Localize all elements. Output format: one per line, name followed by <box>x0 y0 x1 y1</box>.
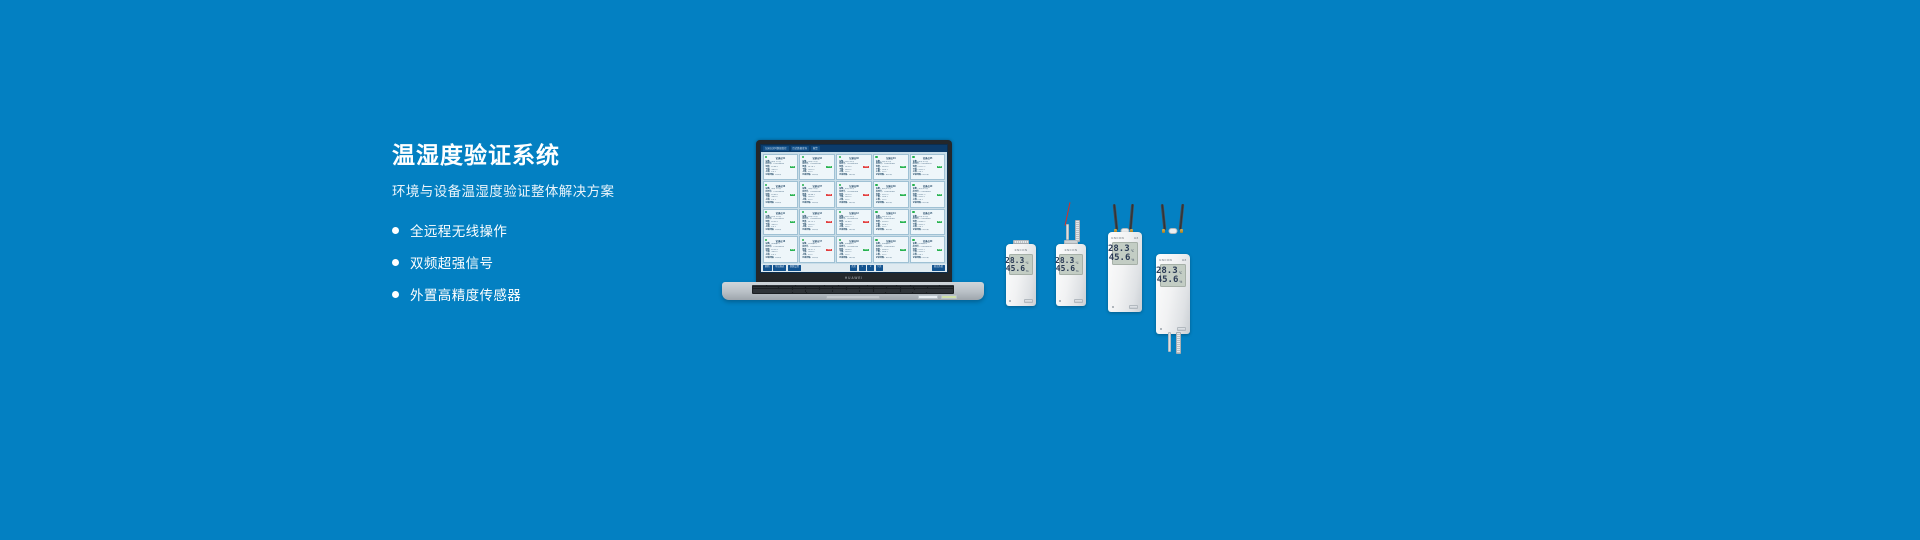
card-field-row: 记录间隔:10分钟 <box>766 257 796 259</box>
probe-stem <box>1066 224 1069 240</box>
card-field-row: 记录间隔:10分钟 <box>802 174 832 176</box>
lcd-humidity-line: 45.6 % <box>1109 254 1135 263</box>
card-field-key: 记录间隔: <box>839 202 848 204</box>
device-brand-row: ENCON H8 <box>1159 258 1186 262</box>
card-field-key: 记录间隔: <box>766 174 775 176</box>
antenna-right-connector <box>1180 229 1184 233</box>
card-field-value: 10分钟 <box>849 229 855 231</box>
laptop-keyboard <box>752 285 954 295</box>
list-item: 全远程无线操作 <box>392 220 722 240</box>
lcd-humidity-unit: % <box>1179 281 1182 284</box>
laptop-sticker-spec <box>918 295 938 299</box>
pager-page-2[interactable]: 2 <box>867 265 874 271</box>
sensor-card[interactable]: 记录仪11设备:仓库 1号点序列号:T220200111温度:25.55℃正常下… <box>763 209 799 236</box>
card-field-row: 记录间隔:10分钟 <box>913 202 943 204</box>
laptop-brand-label: HUAWEI <box>756 273 952 282</box>
card-field-value: 10分钟 <box>922 229 928 231</box>
device-lcd-display: 28.3 ℃ 45.6 % <box>1009 254 1032 275</box>
page-subtitle: 环境与设备温湿度验证整体解决方案 <box>392 183 722 201</box>
card-field-key: 记录间隔: <box>766 229 775 231</box>
card-field-row: 记录间隔:10分钟 <box>802 229 832 231</box>
antenna-right-icon <box>1179 204 1185 230</box>
lcd-humidity-value: 45.6 <box>1056 265 1075 273</box>
card-field-key: 记录间隔: <box>802 257 811 259</box>
sensor-card[interactable]: 记录仪18设备:恒温箱3号序列号:T220200118温度:25.44℃正常下限… <box>836 236 872 263</box>
card-field-row: 记录间隔:10分钟 <box>766 229 796 231</box>
sensor-card[interactable]: 记录仪19设备:恒温箱4号序列号:T220200119温度:24.69℃正常下限… <box>873 236 909 263</box>
card-field-row: 记录间隔:10分钟 <box>839 257 869 259</box>
device-logger-wireless-1: ENCON H8 28.3 ℃ 45.6 % <box>1108 232 1142 312</box>
card-field-row: 记录间隔:10分钟 <box>913 229 943 231</box>
lcd-humidity-unit: % <box>1026 270 1029 273</box>
sensor-card[interactable]: 记录仪05设备:冷库 5号点序列号:T220200105温度:25.12℃正常下… <box>910 154 946 181</box>
device-body: ENCON H8 28.3 ℃ 45.6 % <box>1108 232 1142 312</box>
sensor-card[interactable]: 记录仪03设备:冷库 3号点序列号:T220200103温度:25.31℃报警下… <box>836 154 872 181</box>
card-title: 记录仪13 <box>839 211 869 215</box>
card-title: 记录仪05 <box>913 156 943 160</box>
laptop-product-image: 记录仪实时数据监控 历史数据查询 报警 记录仪01设备:冷库 1号点序列号:T2… <box>722 140 984 300</box>
key <box>940 292 953 293</box>
device-controls <box>1059 299 1082 303</box>
card-field-value: 10分钟 <box>812 229 818 231</box>
card-field-key: 记录间隔: <box>839 174 848 176</box>
key <box>793 292 806 293</box>
sensor-card[interactable]: 记录仪15设备:仓库 5号点序列号:T220200115温度:24.84℃正常下… <box>910 209 946 236</box>
card-title: 记录仪08 <box>839 184 869 188</box>
key <box>899 292 912 293</box>
card-status-led-icon <box>875 239 877 241</box>
laptop-screen: 记录仪实时数据监控 历史数据查询 报警 记录仪01设备:冷库 1号点序列号:T2… <box>760 144 948 273</box>
key <box>779 292 792 293</box>
sensor-card[interactable]: 记录仪12设备:仓库 2号点序列号:T220200112温度:24.72℃报警下… <box>799 209 835 236</box>
device-logger-probe: ENCON 28.3 ℃ 45.6 % <box>1056 244 1086 306</box>
card-field-row: 记录间隔:10分钟 <box>913 257 943 259</box>
lcd-humidity-line: 45.6 % <box>1006 265 1029 273</box>
lcd-humidity-unit: % <box>1076 270 1079 273</box>
promo-banner: 温湿度验证系统 环境与设备温湿度验证整体解决方案 全远程无线操作 双频超强信号 … <box>0 0 1920 540</box>
device-button[interactable] <box>1129 305 1138 309</box>
card-field-value: 10分钟 <box>849 202 855 204</box>
key <box>913 292 926 293</box>
page-title: 温湿度验证系统 <box>392 142 722 170</box>
device-brand-label: ENCON <box>1065 248 1078 252</box>
device-body: ENCON 28.3 ℃ 45.6 % <box>1006 244 1036 306</box>
device-controls <box>1009 299 1032 303</box>
card-field-key: 记录间隔: <box>876 174 885 176</box>
device-lcd-display: 28.3 ℃ 45.6 % <box>1160 264 1187 287</box>
exit-button[interactable]: 退出系统 <box>932 265 945 271</box>
card-title: 记录仪10 <box>913 184 943 188</box>
card-title: 记录仪19 <box>876 239 906 243</box>
tab-alarm[interactable]: 报警 <box>811 146 820 151</box>
card-field-value: 10分钟 <box>812 202 818 204</box>
card-field-value: 10分钟 <box>922 257 928 259</box>
sensor-card[interactable]: 记录仪02设备:冷库 2号点序列号:T220200102温度:24.76℃正常下… <box>799 154 835 181</box>
card-field-row: 记录间隔:10分钟 <box>839 229 869 231</box>
card-status-led-icon <box>802 239 804 241</box>
sensor-card-grid: 记录仪01设备:冷库 1号点序列号:T220200101温度:25.08℃正常下… <box>761 152 947 264</box>
lcd-humidity-unit: % <box>1131 259 1134 262</box>
dashboard-tabbar: 记录仪实时数据监控 历史数据查询 报警 <box>761 145 947 152</box>
device-button[interactable] <box>1074 299 1083 303</box>
status-led-icon <box>1160 328 1162 330</box>
card-status-led-icon <box>839 239 841 241</box>
card-status-led-icon <box>839 184 841 186</box>
device-brand-label: ENCON <box>1111 236 1124 240</box>
list-item: 外置高精度传感器 <box>392 284 722 304</box>
card-field-key: 记录间隔: <box>802 174 811 176</box>
key <box>753 292 779 293</box>
card-title: 记录仪11 <box>766 211 796 215</box>
card-field-row: 记录间隔:10分钟 <box>839 174 869 176</box>
data-logger-group: ENCON 28.3 ℃ 45.6 % <box>1000 186 1230 306</box>
card-field-key: 记录间隔: <box>876 257 885 259</box>
card-field-value: 10分钟 <box>886 257 892 259</box>
laptop-base <box>722 282 984 300</box>
keyboard-row <box>753 292 954 293</box>
sensor-card[interactable]: 记录仪13设备:仓库 3号点序列号:T220200113温度:25.18℃报警下… <box>836 209 872 236</box>
probe-stem <box>1168 332 1171 352</box>
card-field-value: 10分钟 <box>812 257 818 259</box>
card-field-row: 记录间隔:10分钟 <box>876 202 906 204</box>
device-controls <box>1112 305 1139 309</box>
card-field-key: 记录间隔: <box>913 174 922 176</box>
laptop-sticker-logo <box>941 295 957 299</box>
antenna-right-icon <box>1129 204 1135 230</box>
hanger-loop-icon <box>1169 228 1178 234</box>
lcd-humidity-value: 45.6 <box>1006 265 1025 273</box>
card-title: 记录仪02 <box>802 156 832 160</box>
card-field-key: 记录间隔: <box>913 229 922 231</box>
device-brand-row: ENCON H8 <box>1111 236 1138 240</box>
feature-label: 外置高精度传感器 <box>410 284 521 304</box>
laptop-lid: 记录仪实时数据监控 历史数据查询 报警 记录仪01设备:冷库 1号点序列号:T2… <box>756 140 952 282</box>
sensor-card[interactable]: 记录仪08设备:车间 3号点序列号:T220200108温度:25.22℃报警下… <box>836 181 872 208</box>
card-title: 记录仪16 <box>766 239 796 243</box>
sensor-card[interactable]: 记录仪10设备:车间 5号点序列号:T220200110温度:24.61℃正常下… <box>910 181 946 208</box>
device-lcd-display: 28.3 ℃ 45.6 % <box>1112 242 1139 265</box>
card-title: 记录仪04 <box>876 156 906 160</box>
card-field-row: 记录间隔:10分钟 <box>802 257 832 259</box>
card-field-key: 记录间隔: <box>876 229 885 231</box>
card-field-row: 记录间隔:10分钟 <box>766 174 796 176</box>
card-field-key: 记录间隔: <box>802 229 811 231</box>
tab-history[interactable]: 历史数据查询 <box>791 146 809 151</box>
antenna-left-icon <box>1113 204 1119 230</box>
card-field-key: 记录间隔: <box>766 257 775 259</box>
card-title: 记录仪03 <box>839 156 869 160</box>
card-field-key: 记录间隔: <box>876 202 885 204</box>
card-field-row: 记录间隔:10分钟 <box>876 174 906 176</box>
pager-first[interactable]: 首页 <box>850 265 857 271</box>
probe-tip-sensor <box>1176 332 1181 354</box>
card-field-row: 记录间隔:10分钟 <box>766 202 796 204</box>
banner-copy: 温湿度验证系统 环境与设备温湿度验证整体解决方案 全远程无线操作 双频超强信号 … <box>392 142 722 316</box>
bullet-dot-icon <box>392 291 399 298</box>
card-title: 记录仪09 <box>876 184 906 188</box>
spacebar <box>807 292 885 293</box>
pager-next[interactable]: 下页 <box>876 265 883 271</box>
card-field-value: 10分钟 <box>849 257 855 259</box>
sensor-card[interactable]: 记录仪17设备:恒温箱2号序列号:T220200117温度:24.97℃报警下限… <box>799 236 835 263</box>
tab-realtime[interactable]: 记录仪实时数据监控 <box>763 146 789 151</box>
device-brand-label: ENCON <box>1159 258 1172 262</box>
lcd-humidity-value: 45.6 <box>1157 276 1179 285</box>
card-field-value: 10分钟 <box>812 174 818 176</box>
card-field-value: 10分钟 <box>886 174 892 176</box>
card-title: 记录仪15 <box>913 211 943 215</box>
card-title: 记录仪20 <box>913 239 943 243</box>
card-field-row: 记录间隔:10分钟 <box>876 229 906 231</box>
card-field-value: 10分钟 <box>886 229 892 231</box>
feature-label: 全远程无线操作 <box>410 220 507 240</box>
lcd-humidity-value: 45.6 <box>1109 254 1131 263</box>
card-field-row: 记录间隔:10分钟 <box>876 257 906 259</box>
antenna-left-connector <box>1162 229 1166 233</box>
export-button[interactable]: 导出报表 <box>773 265 786 271</box>
device-brand-label: ENCON <box>1015 248 1028 252</box>
card-field-value: 10分钟 <box>775 174 781 176</box>
lcd-humidity-line: 45.6 % <box>1056 265 1079 273</box>
device-logger-wireless-2: ENCON H8 28.3 ℃ 45.6 % <box>1156 254 1190 334</box>
device-body: ENCON 28.3 ℃ 45.6 % <box>1056 244 1086 306</box>
device-model-label: H8 <box>1182 258 1187 262</box>
card-title: 记录仪18 <box>839 239 869 243</box>
card-field-value: 10分钟 <box>775 257 781 259</box>
device-button[interactable] <box>1177 327 1186 331</box>
sensor-card[interactable]: 记录仪04设备:冷库 4号点序列号:T220200104温度:24.95℃正常下… <box>873 154 909 181</box>
card-field-key: 记录间隔: <box>839 257 848 259</box>
sensor-card[interactable]: 记录仪16设备:恒温箱1号序列号:T220200116温度:25.29℃正常下限… <box>763 236 799 263</box>
card-status-led-icon <box>875 184 877 186</box>
card-field-key: 记录间隔: <box>913 257 922 259</box>
sensor-card[interactable]: 记录仪20设备:恒温箱5号序列号:T220200120温度:25.11℃正常下限… <box>910 236 946 263</box>
card-field-row: 记录间隔:10分钟 <box>913 174 943 176</box>
card-title: 记录仪01 <box>766 156 796 160</box>
card-field-key: 记录间隔: <box>913 202 922 204</box>
card-title: 记录仪17 <box>802 239 832 243</box>
bullet-dot-icon <box>392 227 399 234</box>
card-field-value: 10分钟 <box>775 202 781 204</box>
card-title: 记录仪06 <box>766 184 796 188</box>
card-title: 记录仪14 <box>876 211 906 215</box>
card-field-row: 记录间隔:10分钟 <box>802 202 832 204</box>
pager-page-1[interactable]: 1 <box>859 265 866 271</box>
sensor-card[interactable]: 记录仪01设备:冷库 1号点序列号:T220200101温度:25.08℃正常下… <box>763 154 799 181</box>
card-title: 记录仪07 <box>802 184 832 188</box>
bullet-dot-icon <box>392 259 399 266</box>
sensor-card[interactable]: 记录仪06设备:车间 1号点序列号:T220200106温度:25.40℃正常下… <box>763 181 799 208</box>
sensor-card[interactable]: 记录仪07设备:车间 2号点序列号:T220200107温度:24.88℃报警下… <box>799 181 835 208</box>
card-title: 记录仪12 <box>802 211 832 215</box>
laptop-touchpad[interactable] <box>826 295 880 300</box>
dashboard-footer: 刷新 导出报表 参数设置 首页 1 2 下页 退出系统 <box>761 264 947 272</box>
antenna-left-icon <box>1161 204 1167 230</box>
status-led-icon <box>1009 300 1011 302</box>
card-field-value: 10分钟 <box>775 229 781 231</box>
settings-button[interactable]: 参数设置 <box>788 265 801 271</box>
card-field-key: 记录间隔: <box>839 229 848 231</box>
key <box>927 292 940 293</box>
refresh-button[interactable]: 刷新 <box>763 265 772 271</box>
card-field-row: 记录间隔:10分钟 <box>839 202 869 204</box>
device-controls <box>1160 327 1187 331</box>
lcd-humidity-line: 45.6 % <box>1157 276 1183 285</box>
feature-list: 全远程无线操作 双频超强信号 外置高精度传感器 <box>392 220 722 304</box>
device-button[interactable] <box>1024 299 1033 303</box>
card-field-value: 10分钟 <box>886 202 892 204</box>
card-field-value: 10分钟 <box>849 174 855 176</box>
sensor-card[interactable]: 记录仪14设备:仓库 4号点序列号:T220200114温度:25.03℃正常下… <box>873 209 909 236</box>
card-status-led-icon <box>802 184 804 186</box>
status-led-icon <box>1112 306 1114 308</box>
device-logger-compact: ENCON 28.3 ℃ 45.6 % <box>1006 244 1036 306</box>
probe-wire <box>1065 202 1071 226</box>
card-field-value: 10分钟 <box>922 174 928 176</box>
card-status-led-icon <box>912 184 914 186</box>
feature-label: 双频超强信号 <box>410 252 493 272</box>
device-model-label: H8 <box>1134 236 1139 240</box>
device-lcd-display: 28.3 ℃ 45.6 % <box>1059 254 1082 275</box>
status-led-icon <box>1059 300 1061 302</box>
card-field-value: 10分钟 <box>922 202 928 204</box>
card-field-key: 记录间隔: <box>766 202 775 204</box>
device-body: ENCON H8 28.3 ℃ 45.6 % <box>1156 254 1190 334</box>
card-field-key: 记录间隔: <box>802 202 811 204</box>
list-item: 双频超强信号 <box>392 252 722 272</box>
card-status-led-icon <box>912 239 914 241</box>
probe-tip-sensor <box>1075 220 1080 242</box>
sensor-card[interactable]: 记录仪09设备:车间 4号点序列号:T220200109温度:25.07℃正常下… <box>873 181 909 208</box>
key <box>886 292 899 293</box>
